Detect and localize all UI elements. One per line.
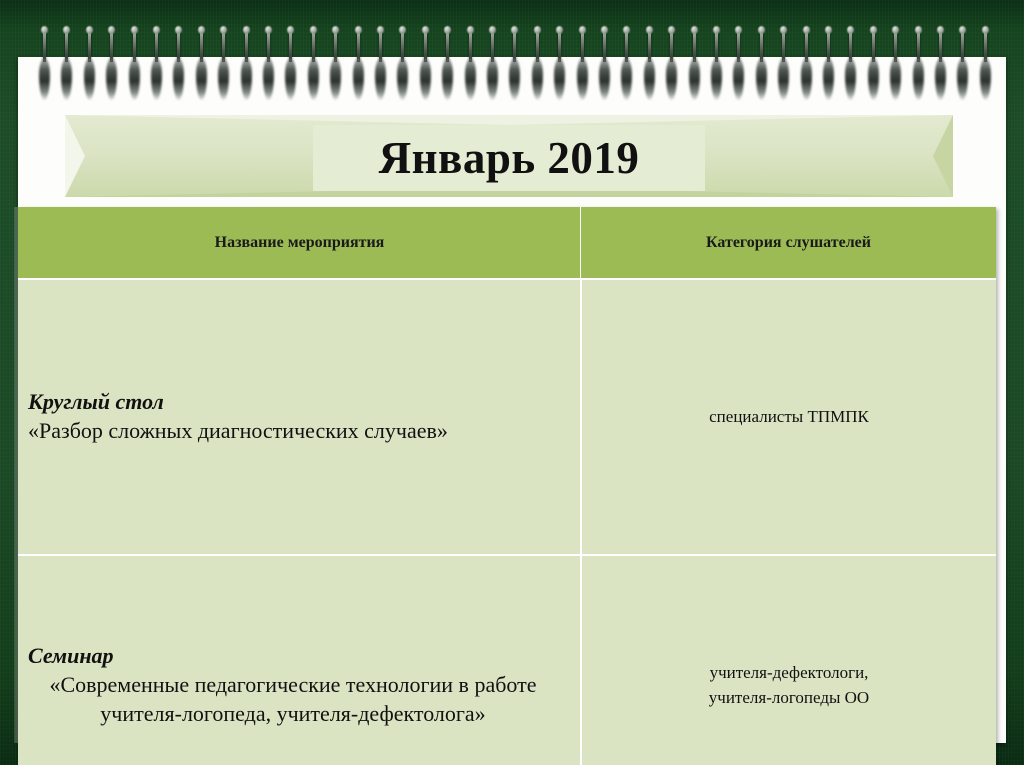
table-row: Круглый стол «Разбор сложных диагностиче… [18, 279, 996, 555]
spiral-ring-cap [422, 26, 429, 34]
event-title: «Современные педагогические технологии в… [28, 671, 570, 728]
audience-cell: учителя-дефектологи, учителя-логопеды ОО [581, 555, 996, 765]
spiral-ring-cap [937, 26, 944, 34]
column-header-event-name: Название мероприятия [18, 207, 581, 279]
spiral-ring-cap [444, 26, 451, 34]
spiral-ring-cap [489, 26, 496, 34]
banner-bevel-right [933, 115, 953, 197]
spiral-ring-cap [646, 26, 653, 34]
spiral-ring-cap [847, 26, 854, 34]
spiral-ring-cap [825, 26, 832, 34]
audience-line: учителя-логопеды ОО [592, 686, 986, 711]
spiral-ring-cap [780, 26, 787, 34]
page-title: Январь 2019 [379, 136, 640, 181]
column-header-audience-category: Категория слушателей [581, 207, 996, 279]
banner-bevel-left [65, 115, 85, 197]
spiral-ring-cap [713, 26, 720, 34]
spiral-ring-cap [198, 26, 205, 34]
spiral-ring-cap [355, 26, 362, 34]
title-plate: Январь 2019 [313, 125, 705, 191]
spiral-ring-cap [131, 26, 138, 34]
spiral-ring-cap [982, 26, 989, 34]
spiral-ring-cap [332, 26, 339, 34]
spiral-ring-cap [467, 26, 474, 34]
spiral-ring-cap [758, 26, 765, 34]
event-cell: Семинар «Современные педагогические техн… [18, 555, 581, 765]
spiral-ring-cap [668, 26, 675, 34]
spiral-ring-cap [803, 26, 810, 34]
spiral-ring-cap [892, 26, 899, 34]
event-title: «Разбор сложных диагностических случаев» [28, 417, 570, 446]
spiral-ring-cap [556, 26, 563, 34]
table-row: Семинар «Современные педагогические техн… [18, 555, 996, 765]
spiral-ring-cap [287, 26, 294, 34]
spiral-ring-cap [310, 26, 317, 34]
spiral-ring-cap [220, 26, 227, 34]
audience-line: учителя-дефектологи, [592, 661, 986, 686]
spiral-ring-cap [534, 26, 541, 34]
spiral-ring-cap [601, 26, 608, 34]
spiral-ring-cap [691, 26, 698, 34]
spiral-ring-cap [735, 26, 742, 34]
spiral-ring-cap [175, 26, 182, 34]
spiral-ring-cap [86, 26, 93, 34]
event-kind: Круглый стол [28, 389, 570, 415]
banner-bevel-top [65, 115, 953, 125]
spiral-ring-cap [243, 26, 250, 34]
spiral-ring-cap [870, 26, 877, 34]
spiral-ring-cap [959, 26, 966, 34]
spiral-ring-cap [377, 26, 384, 34]
spiral-ring-cap [153, 26, 160, 34]
spiral-ring-cap [623, 26, 630, 34]
table-header-row: Название мероприятия Категория слушателе… [18, 207, 996, 279]
spiral-ring-cap [579, 26, 586, 34]
spiral-ring-cap [265, 26, 272, 34]
event-cell: Круглый стол «Разбор сложных диагностиче… [18, 279, 581, 555]
spiral-ring-cap [41, 26, 48, 34]
spiral-ring-cap [915, 26, 922, 34]
events-table: Название мероприятия Категория слушателе… [18, 207, 996, 765]
spiral-ring-cap [511, 26, 518, 34]
spiral-ring-cap [63, 26, 70, 34]
event-kind: Семинар [28, 643, 570, 669]
audience-line: специалисты ТПМПК [592, 405, 986, 430]
spiral-ring-cap [399, 26, 406, 34]
title-banner: Январь 2019 [65, 115, 953, 197]
audience-cell: специалисты ТПМПК [581, 279, 996, 555]
calendar-slide: Январь 2019 Название мероприятия Категор… [0, 0, 1024, 765]
spiral-ring-cap [108, 26, 115, 34]
